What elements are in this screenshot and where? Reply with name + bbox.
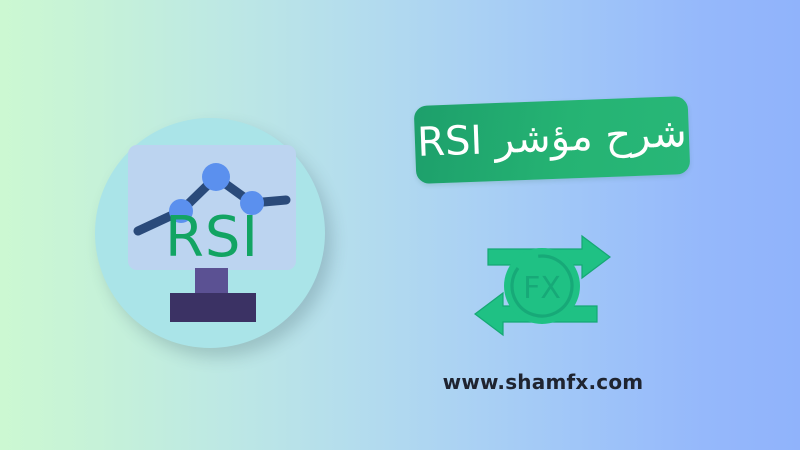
svg-text:FX: FX [523, 271, 561, 306]
title-badge-label: شرح مؤشر RSI [417, 113, 688, 167]
rsi-screen-label: RSI [128, 145, 296, 270]
title-badge: شرح مؤشر RSI [414, 96, 691, 184]
poster-canvas: RSI شرح مؤشر RSI FX www.shamfx.com [0, 0, 800, 450]
website-url-text: www.shamfx.com [443, 370, 644, 394]
fx-exchange-icon: FX [470, 232, 615, 340]
monitor-stand-base [170, 293, 256, 322]
website-url: www.shamfx.com [0, 370, 800, 394]
rsi-logo: RSI [95, 118, 325, 348]
